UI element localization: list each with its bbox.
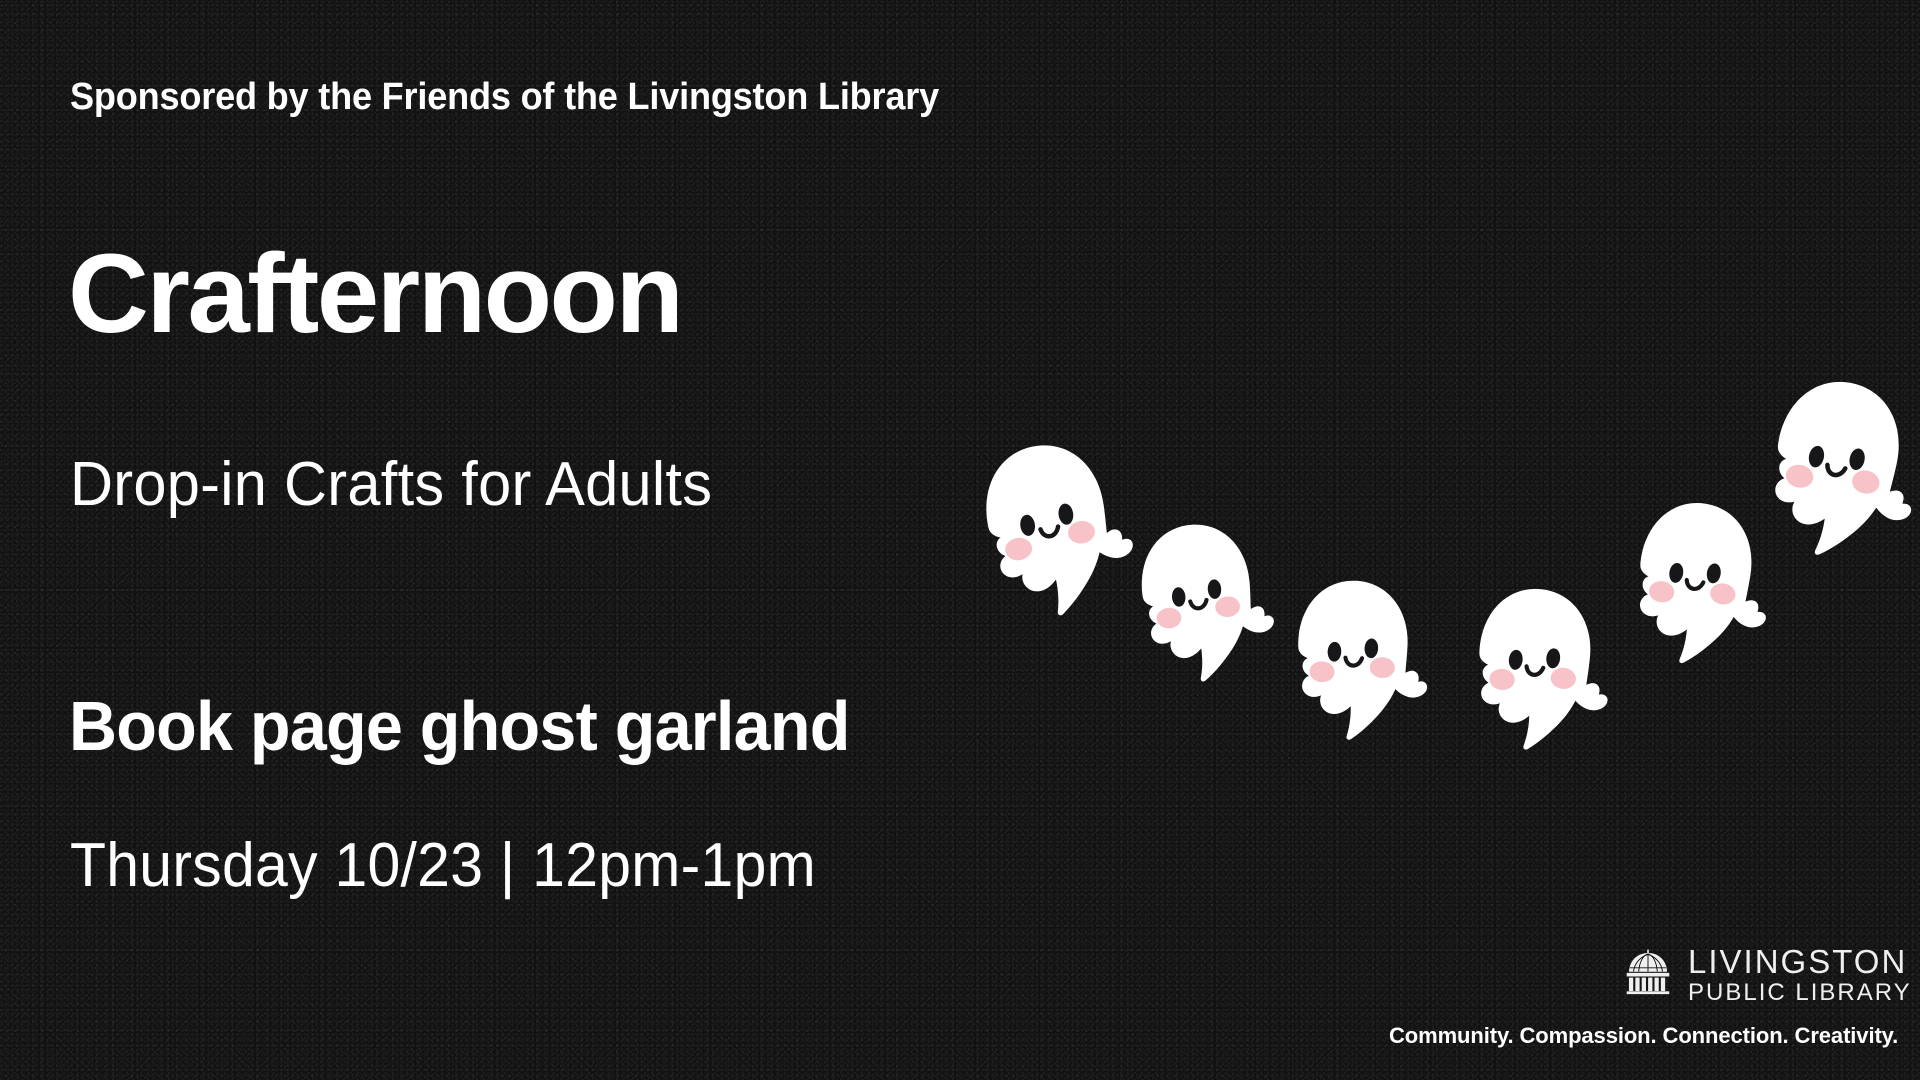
- ghost-illustration: [1268, 570, 1437, 751]
- poster-canvas: Sponsored by the Friends of the Livingst…: [0, 0, 1920, 1080]
- library-logo: LIVINGSTON PUBLIC LIBRARY: [1620, 944, 1912, 1005]
- logo-line-livingston: LIVINGSTON: [1688, 945, 1912, 978]
- ghost-garland: [0, 0, 1920, 1080]
- ghost-illustration: [950, 427, 1146, 635]
- ghost-illustration: [1599, 484, 1786, 683]
- library-tagline: Community. Compassion. Connection. Creat…: [1389, 1023, 1898, 1049]
- logo-line-public-library: PUBLIC LIBRARY: [1688, 981, 1912, 1005]
- logo-wordmark: LIVINGSTON PUBLIC LIBRARY: [1688, 945, 1912, 1005]
- ghost-illustration: [1443, 574, 1622, 765]
- library-dome-icon: [1620, 944, 1676, 1005]
